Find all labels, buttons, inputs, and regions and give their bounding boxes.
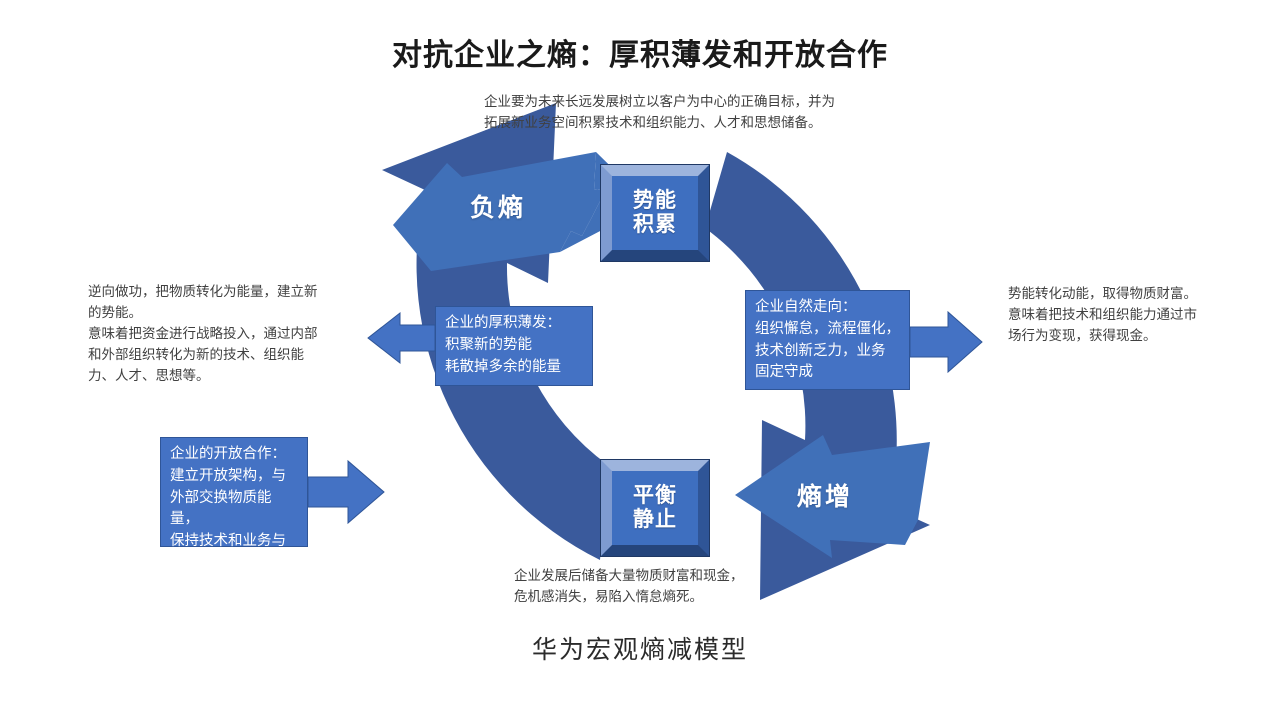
node-bottom-label: 平衡 静止 — [633, 484, 677, 531]
note-right: 势能转化动能，取得物质财富。 意味着把技术和组织能力通过市场行为变现，获得现金。 — [1008, 284, 1208, 347]
model-caption: 华为宏观熵减模型 — [0, 630, 1280, 666]
entropy-increase-arrow-label: 熵增 — [797, 477, 853, 513]
negentropy-arrow-label: 负熵 — [470, 188, 526, 224]
small-in-arrow — [308, 461, 384, 523]
diagram-canvas: 对抗企业之熵：厚积薄发和开放合作 — [0, 0, 1280, 720]
box-houjibofa[interactable]: 企业的厚积薄发： 积聚新的势能 耗散掉多余的能量 — [435, 306, 593, 386]
note-left: 逆向做功，把物质转化为能量，建立新的势能。 意味着把资金进行战略投入，通过内部和… — [88, 282, 324, 387]
note-top: 企业要为未来长远发展树立以客户为中心的正确目标，并为拓展新业务空间积累技术和组织… — [484, 92, 844, 134]
node-potential-accumulation[interactable]: 势能 积累 — [601, 165, 709, 261]
small-right-arrow — [910, 312, 982, 372]
box-kaifanghezuo[interactable]: 企业的开放合作： 建立开放架构，与 外部交换物质能量， 保持技术和业务与 时俱进 — [160, 437, 308, 547]
node-top-label: 势能 积累 — [633, 189, 677, 236]
box-ziranzouxiang[interactable]: 企业自然走向： 组织懈怠，流程僵化， 技术创新乏力，业务 固定守成 — [745, 290, 910, 390]
node-equilibrium-static[interactable]: 平衡 静止 — [601, 460, 709, 556]
note-bottom: 企业发展后储备大量物质财富和现金， 危机感消失，易陷入惰怠熵死。 — [514, 566, 844, 608]
